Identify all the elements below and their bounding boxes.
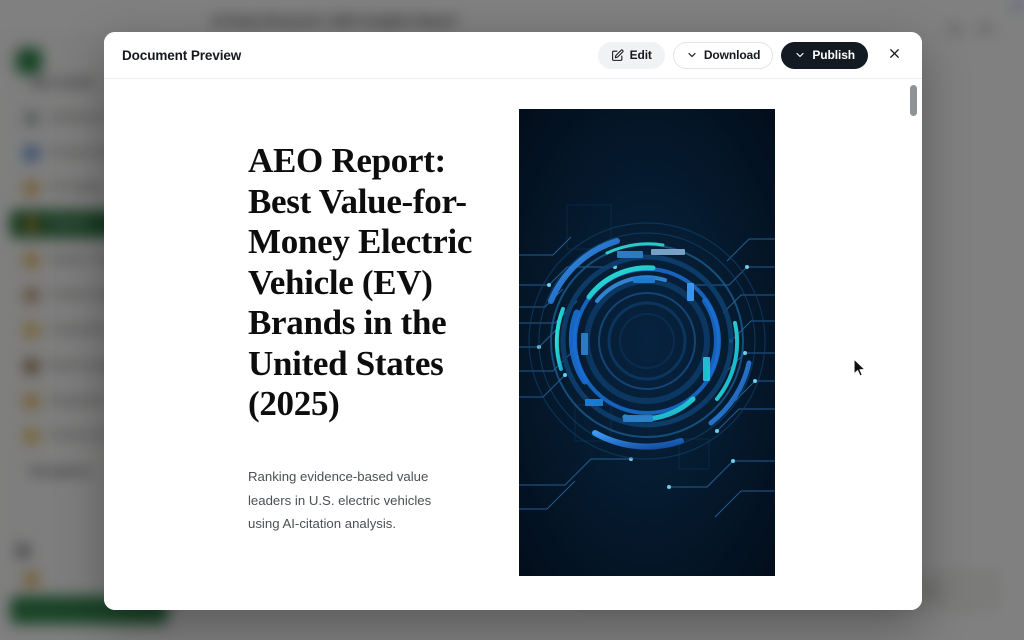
square-pen-icon [611,49,624,62]
download-button-label: Download [704,48,761,62]
download-button[interactable]: Download [673,42,774,69]
modal-scrollbar[interactable] [910,79,920,610]
chevron-down-icon [794,49,806,61]
document-title: AEO Report: Best Value-for-Money Electri… [248,141,480,425]
close-icon [887,46,902,64]
modal-body: AEO Report: Best Value-for-Money Electri… [104,79,922,610]
close-button[interactable] [880,41,908,69]
publish-button-label: Publish [812,48,855,62]
edit-button[interactable]: Edit [598,42,665,69]
document-subtitle: Ranking evidence-based value leaders in … [248,465,463,536]
edit-button-label: Edit [630,48,652,62]
document-preview-modal: Document Preview Edit Download [104,32,922,610]
modal-action-bar: Edit Download Publish [598,41,908,69]
scrollbar-thumb[interactable] [910,85,917,116]
modal-header: Document Preview Edit Download [104,32,922,79]
document-canvas: AEO Report: Best Value-for-Money Electri… [104,79,922,610]
publish-button[interactable]: Publish [781,42,868,69]
modal-title: Document Preview [122,48,241,63]
chevron-down-icon [686,49,698,61]
document-hero-image [519,109,775,576]
